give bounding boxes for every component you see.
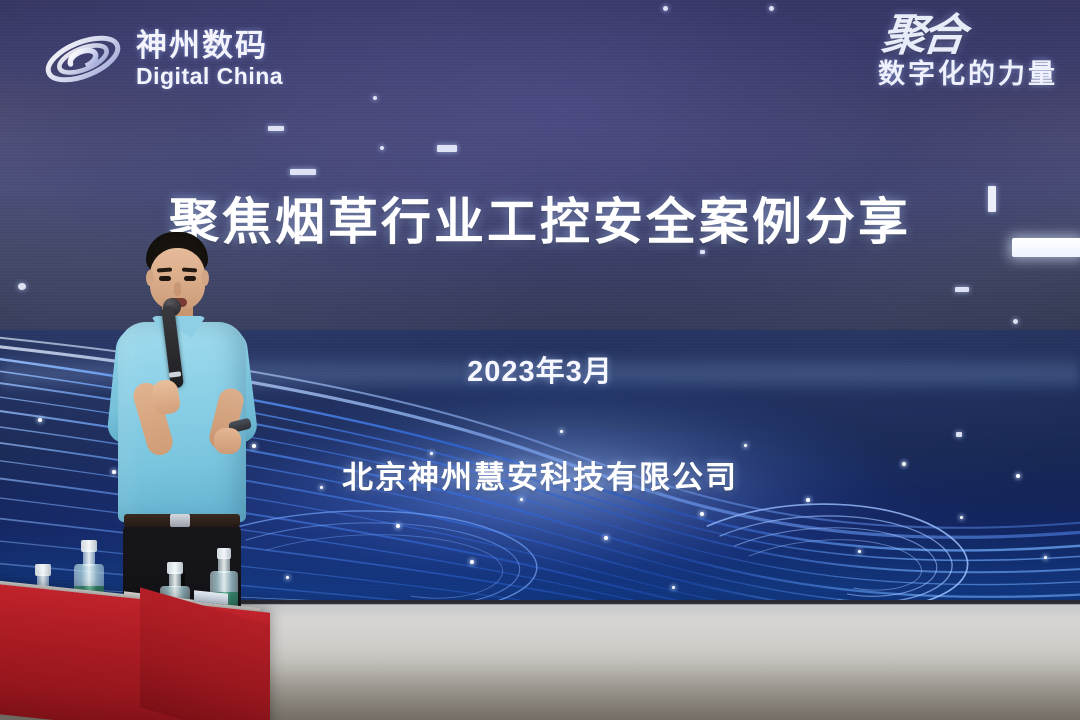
- light-streak: [956, 432, 962, 437]
- light-streak: [769, 6, 774, 11]
- light-particle: [560, 430, 563, 433]
- light-particle: [38, 418, 42, 422]
- event-logo-calligraphy: 聚合: [806, 16, 964, 56]
- speaker-right-hand: [214, 428, 241, 454]
- light-particle: [672, 586, 675, 589]
- light-particle: [1044, 556, 1047, 559]
- light-streak: [955, 287, 969, 292]
- speaker-belt-buckle: [170, 514, 190, 527]
- light-streak: [437, 145, 457, 152]
- speaker-presenter: [96, 232, 286, 622]
- light-particle: [700, 512, 704, 516]
- light-streak: [380, 146, 384, 150]
- light-streak: [18, 283, 26, 290]
- light-streak: [373, 96, 377, 100]
- speaker-eye-left: [159, 276, 171, 281]
- speaker-eye-right: [184, 276, 196, 281]
- light-streak: [1013, 319, 1018, 324]
- light-particle: [858, 550, 861, 553]
- light-streak: [290, 169, 316, 175]
- digital-china-logo: 神州数码 Digital China: [40, 18, 308, 100]
- digital-china-spiral-logo-icon: [40, 23, 126, 95]
- light-particle: [470, 560, 474, 564]
- speaker-ear-left: [146, 270, 154, 286]
- light-particle: [520, 498, 523, 501]
- light-streak: [268, 126, 284, 131]
- light-particle: [604, 536, 608, 540]
- speaker-ear-right: [201, 270, 209, 286]
- light-streak: [663, 6, 668, 11]
- event-logo: 聚合 数字化的力量: [808, 16, 1058, 112]
- light-particle: [396, 524, 400, 528]
- conference-photo: 神州数码 Digital China 聚合 数字化的力量 聚焦烟草行业工控安全案…: [0, 0, 1080, 720]
- light-particle: [286, 576, 289, 579]
- light-particle: [806, 498, 810, 502]
- brand-name-cn: 神州数码: [136, 30, 283, 61]
- speaker-nose: [174, 282, 181, 296]
- brand-name-en: Digital China: [136, 65, 283, 88]
- light-particle: [960, 516, 963, 519]
- light-particle: [744, 444, 747, 447]
